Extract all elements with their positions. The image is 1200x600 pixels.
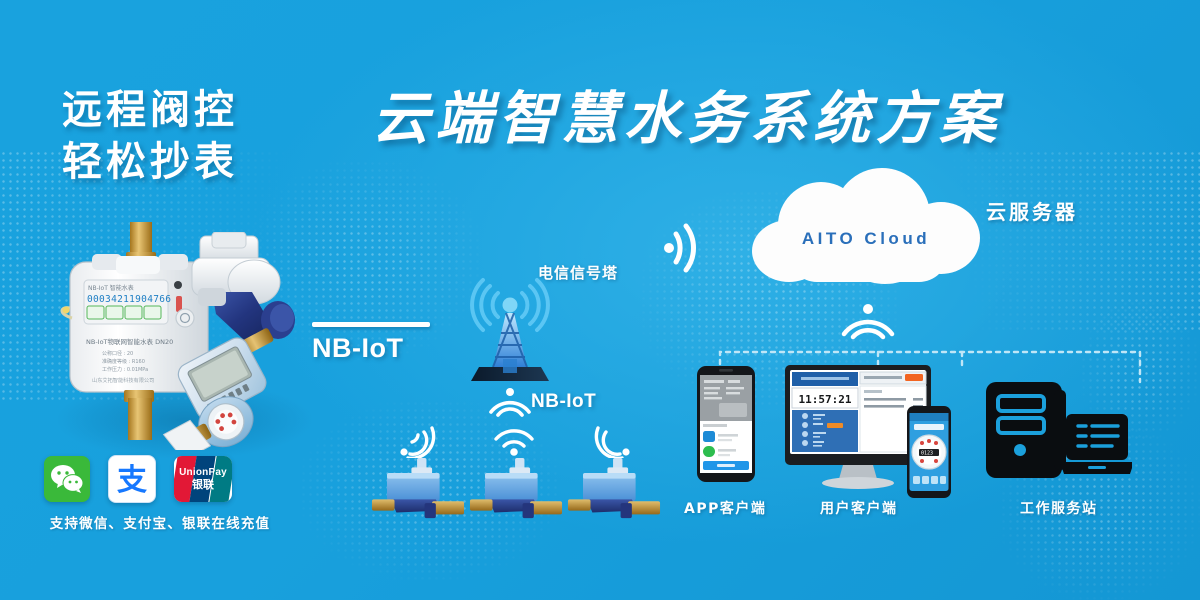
- wifi-signal-icon-tower-downlink: [488, 385, 532, 419]
- svg-text:准确度等级 : R160: 准确度等级 : R160: [102, 358, 145, 365]
- svg-text:工作压力 : 0.01MPa: 工作压力 : 0.01MPa: [102, 366, 148, 373]
- wechat-pay-icon[interactable]: [44, 456, 90, 502]
- nbiot-left-text: NB-IoT: [312, 333, 430, 364]
- svg-text:公称口径 : 20: 公称口径 : 20: [102, 350, 133, 357]
- slogan-block: 远程阀控 轻松抄表: [62, 84, 342, 188]
- unionpay-brand-en: UnionPay: [179, 468, 227, 478]
- slogan-line-2: 轻松抄表: [62, 136, 342, 188]
- svg-text:NB-IoT 智能水表: NB-IoT 智能水表: [88, 284, 134, 292]
- water-meter-icon-lcd: [158, 300, 303, 450]
- svg-text:0123: 0123: [921, 451, 933, 457]
- alipay-icon[interactable]: 支: [108, 455, 156, 503]
- unionpay-icon[interactable]: UnionPay 银联: [174, 456, 232, 502]
- workstation-icons: [984, 382, 1132, 488]
- cell-tower-icon: [465, 275, 555, 385]
- wifi-signal-icon-to-cloud: [660, 222, 708, 274]
- nbiot-label-mid: NB-IoT: [531, 391, 596, 413]
- nbiot-label-left: NB-IoT: [312, 322, 430, 364]
- cloud-icon: AITO Cloud: [752, 168, 980, 284]
- wifi-signal-icon-meter-2: [492, 424, 536, 456]
- poster-canvas: 远程阀控 轻松抄表 云端智慧水务系统方案 AITO Cloud 云服务器: [0, 0, 1200, 600]
- tower-label: 电信信号塔: [538, 262, 618, 283]
- payment-methods: 支 UnionPay 银联: [44, 455, 232, 503]
- water-meter-icon-field-1: [368, 458, 468, 520]
- device-label-app-client: APP客户端: [684, 498, 766, 518]
- cloud-label: AITO Cloud: [752, 168, 980, 284]
- smartphone-icon-app-client: [697, 366, 755, 482]
- page-title: 云端智慧水务系统方案: [372, 86, 1002, 152]
- wifi-signal-icon-meter-1: [398, 424, 438, 458]
- unionpay-brand-cn: 银联: [179, 480, 227, 491]
- wifi-signal-icon-meter-3: [592, 424, 632, 458]
- smartphone-icon-meter-app: 0123: [907, 406, 951, 498]
- svg-text:山东艾拓智能科技有限公司: 山东艾拓智能科技有限公司: [92, 376, 154, 384]
- payment-caption: 支持微信、支付宝、银联在线充值: [30, 512, 290, 532]
- water-meter-icon-field-2: [466, 458, 566, 520]
- water-meter-icon-field-3: [564, 458, 664, 520]
- monitor-clock: 11:57:21: [799, 393, 852, 406]
- svg-text:支: 支: [117, 463, 147, 496]
- device-label-work-station: 工作服务站: [1020, 498, 1098, 518]
- slogan-line-1: 远程阀控: [62, 84, 342, 136]
- device-label-user-client: 用户客户端: [820, 498, 898, 518]
- cloud-server-caption: 云服务器: [986, 196, 1078, 225]
- nbiot-rule: [312, 322, 430, 327]
- wifi-signal-icon-cloud-downlink: [840, 300, 896, 342]
